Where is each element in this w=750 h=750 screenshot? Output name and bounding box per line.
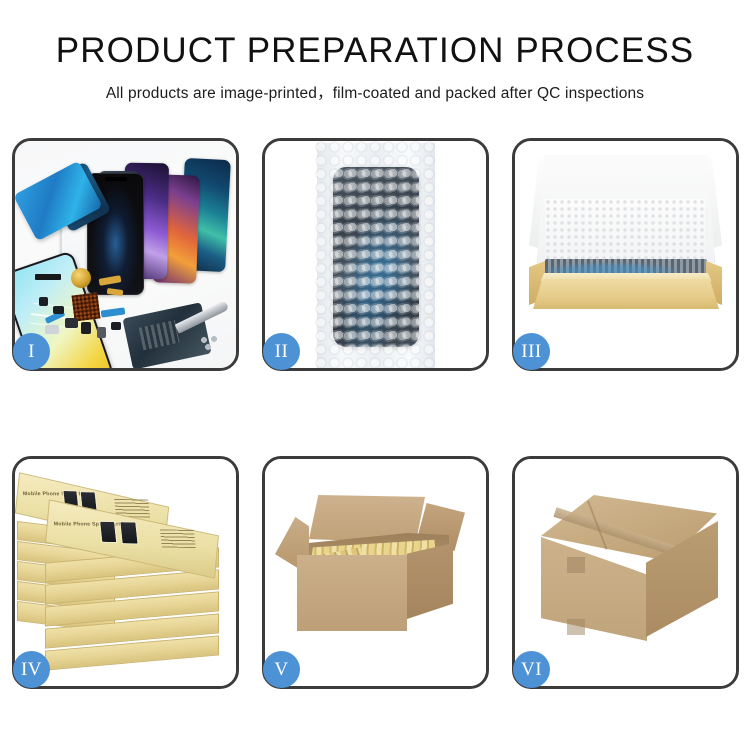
carton-side-right <box>407 543 453 619</box>
small-component-2 <box>53 306 64 314</box>
bubble-wrap-sheet <box>315 141 437 368</box>
step-badge-2: II <box>263 333 300 370</box>
step-6-illustration <box>515 459 736 686</box>
process-step-panel-5[interactable]: V <box>262 456 489 689</box>
small-component-1 <box>39 297 48 306</box>
page-subtitle: All products are image-printed，film-coat… <box>0 81 750 103</box>
step-5-illustration <box>265 459 486 686</box>
foam-lining <box>545 199 705 265</box>
box-stack: Mobile Phone Spare Parts Mobile Phone Sp… <box>15 459 236 686</box>
step-badge-4: IV <box>13 651 50 688</box>
page-header: PRODUCT PREPARATION PROCESS All products… <box>0 0 750 103</box>
step-4-illustration: Mobile Phone Spare Parts Mobile Phone Sp… <box>15 459 236 686</box>
step-badge-3: III <box>513 333 550 370</box>
process-step-panel-2[interactable]: II <box>262 138 489 371</box>
box-thumb-4 <box>119 521 138 544</box>
carton-tab-upper <box>567 557 585 573</box>
small-component-5 <box>97 327 106 338</box>
screws-group <box>200 336 222 350</box>
process-step-panel-4[interactable]: Mobile Phone Spare Parts Mobile Phone Sp… <box>12 456 239 689</box>
step-badge-5: V <box>263 651 300 688</box>
box-thumb-3 <box>99 521 117 543</box>
step-badge-1: I <box>13 333 50 370</box>
carton-tab-lower <box>567 619 585 635</box>
carton-front <box>297 555 407 631</box>
step-1-illustration <box>15 141 236 368</box>
box-front-wall <box>533 279 719 309</box>
box-spec-lines-second <box>160 529 196 548</box>
flex-cable-4 <box>101 307 126 317</box>
gold-coil-part <box>71 268 91 288</box>
small-component-6 <box>111 322 121 330</box>
step-badge-6: VI <box>513 651 550 688</box>
small-component-3 <box>65 318 78 328</box>
step-2-illustration <box>265 141 486 368</box>
process-step-panel-3[interactable]: III <box>512 138 739 371</box>
process-step-grid: I II III <box>12 138 738 689</box>
page-title: PRODUCT PREPARATION PROCESS <box>0 30 750 71</box>
process-step-panel-6[interactable]: VI <box>512 456 739 689</box>
small-component-7 <box>45 325 59 334</box>
speaker-module <box>35 274 61 280</box>
small-component-4 <box>81 322 91 334</box>
step-3-illustration <box>515 141 736 368</box>
process-step-panel-1[interactable]: I <box>12 138 239 371</box>
